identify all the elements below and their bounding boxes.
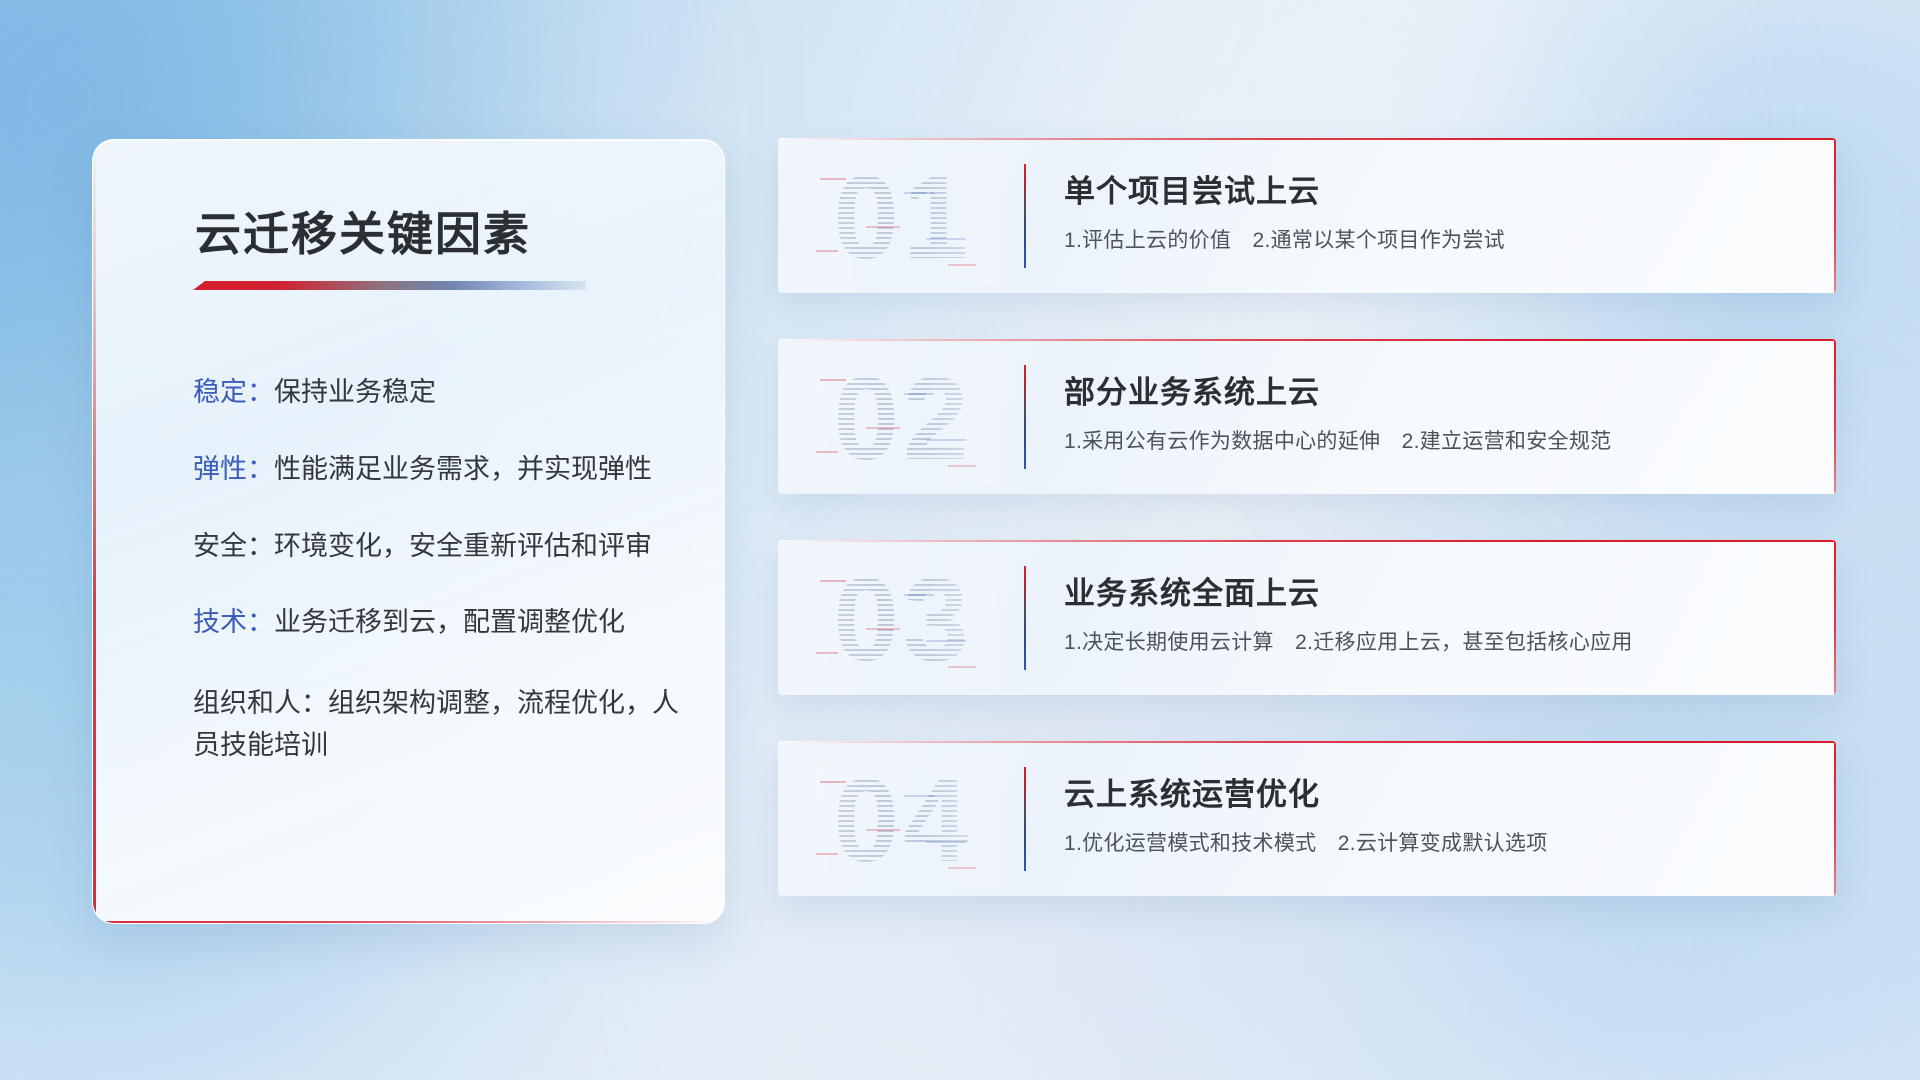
- card-description: 1.采用公有云作为数据中心的延伸 2.建立运营和安全规范: [1064, 425, 1611, 455]
- card-right-accent-line: [1834, 138, 1836, 293]
- key-factor-row: 安全：环境变化，安全重新评估和评审: [193, 530, 684, 564]
- card-divider-bar: [1024, 566, 1026, 670]
- key-factor-row: 技术：业务迁移到云，配置调整优化: [193, 606, 684, 640]
- card-right-accent-line: [1834, 540, 1836, 695]
- key-factor-label: 弹性：: [193, 454, 274, 484]
- stage-card[interactable]: 02部分业务系统上云1.采用公有云作为数据中心的延伸 2.建立运营和安全规范: [778, 339, 1836, 494]
- key-factor-row: 组织和人：组织架构调整，流程优化，人员技能培训: [193, 683, 684, 767]
- page-title: 云迁移关键因素: [195, 198, 531, 264]
- card-right-accent-line: [1834, 741, 1836, 896]
- stage-card-list: 01单个项目尝试上云1.评估上云的价值 2.通常以某个项目作为尝试02部分业务系…: [778, 138, 1836, 896]
- card-title: 云上系统运营优化: [1064, 769, 1320, 814]
- card-title: 单个项目尝试上云: [1064, 166, 1320, 211]
- stage-card[interactable]: 01单个项目尝试上云1.评估上云的价值 2.通常以某个项目作为尝试: [778, 138, 1836, 293]
- card-divider-bar: [1024, 365, 1026, 469]
- card-divider-bar: [1024, 164, 1026, 268]
- card-step-number: 04: [808, 755, 998, 887]
- card-description: 1.优化运营模式和技术模式 2.云计算变成默认选项: [1064, 827, 1548, 857]
- key-factor-label: 稳定：: [193, 377, 274, 407]
- card-description: 1.评估上云的价值 2.通常以某个项目作为尝试: [1064, 224, 1505, 254]
- card-title: 业务系统全面上云: [1064, 568, 1320, 613]
- card-top-accent-line: [778, 339, 1836, 341]
- slide-stage: 云迁移关键因素 稳定：保持业务稳定弹性：性能满足业务需求，并实现弹性安全：环境变…: [0, 0, 1920, 1080]
- key-factor-label: 安全：: [193, 531, 274, 561]
- key-factors-list: 稳定：保持业务稳定弹性：性能满足业务需求，并实现弹性安全：环境变化，安全重新评估…: [193, 376, 684, 767]
- key-factor-text: 环境变化，安全重新评估和评审: [274, 531, 652, 561]
- card-description: 1.决定长期使用云计算 2.迁移应用上云，甚至包括核心应用: [1064, 626, 1633, 656]
- card-top-accent-line: [778, 540, 1836, 542]
- key-factor-text: 性能满足业务需求，并实现弹性: [274, 454, 652, 484]
- card-right-accent-line: [1834, 339, 1836, 494]
- key-factor-row: 弹性：性能满足业务需求，并实现弹性: [193, 453, 684, 487]
- stage-card[interactable]: 03业务系统全面上云1.决定长期使用云计算 2.迁移应用上云，甚至包括核心应用: [778, 540, 1836, 695]
- card-step-number: 03: [808, 554, 998, 686]
- key-factor-text: 保持业务稳定: [274, 377, 436, 407]
- stage-card[interactable]: 04云上系统运营优化1.优化运营模式和技术模式 2.云计算变成默认选项: [778, 741, 1836, 896]
- card-title: 部分业务系统上云: [1064, 367, 1320, 412]
- key-factors-panel: 云迁移关键因素 稳定：保持业务稳定弹性：性能满足业务需求，并实现弹性安全：环境变…: [92, 139, 725, 924]
- card-step-number: 01: [808, 152, 998, 284]
- key-factor-row: 稳定：保持业务稳定: [193, 376, 684, 410]
- key-factor-text: 业务迁移到云，配置调整优化: [274, 607, 625, 637]
- card-top-accent-line: [778, 138, 1836, 140]
- card-step-number: 02: [808, 353, 998, 485]
- key-factor-label: 技术：: [193, 607, 274, 637]
- card-top-accent-line: [778, 741, 1836, 743]
- key-factor-label: 组织和人：: [193, 688, 328, 718]
- title-underline-accent: [193, 281, 586, 290]
- card-divider-bar: [1024, 767, 1026, 871]
